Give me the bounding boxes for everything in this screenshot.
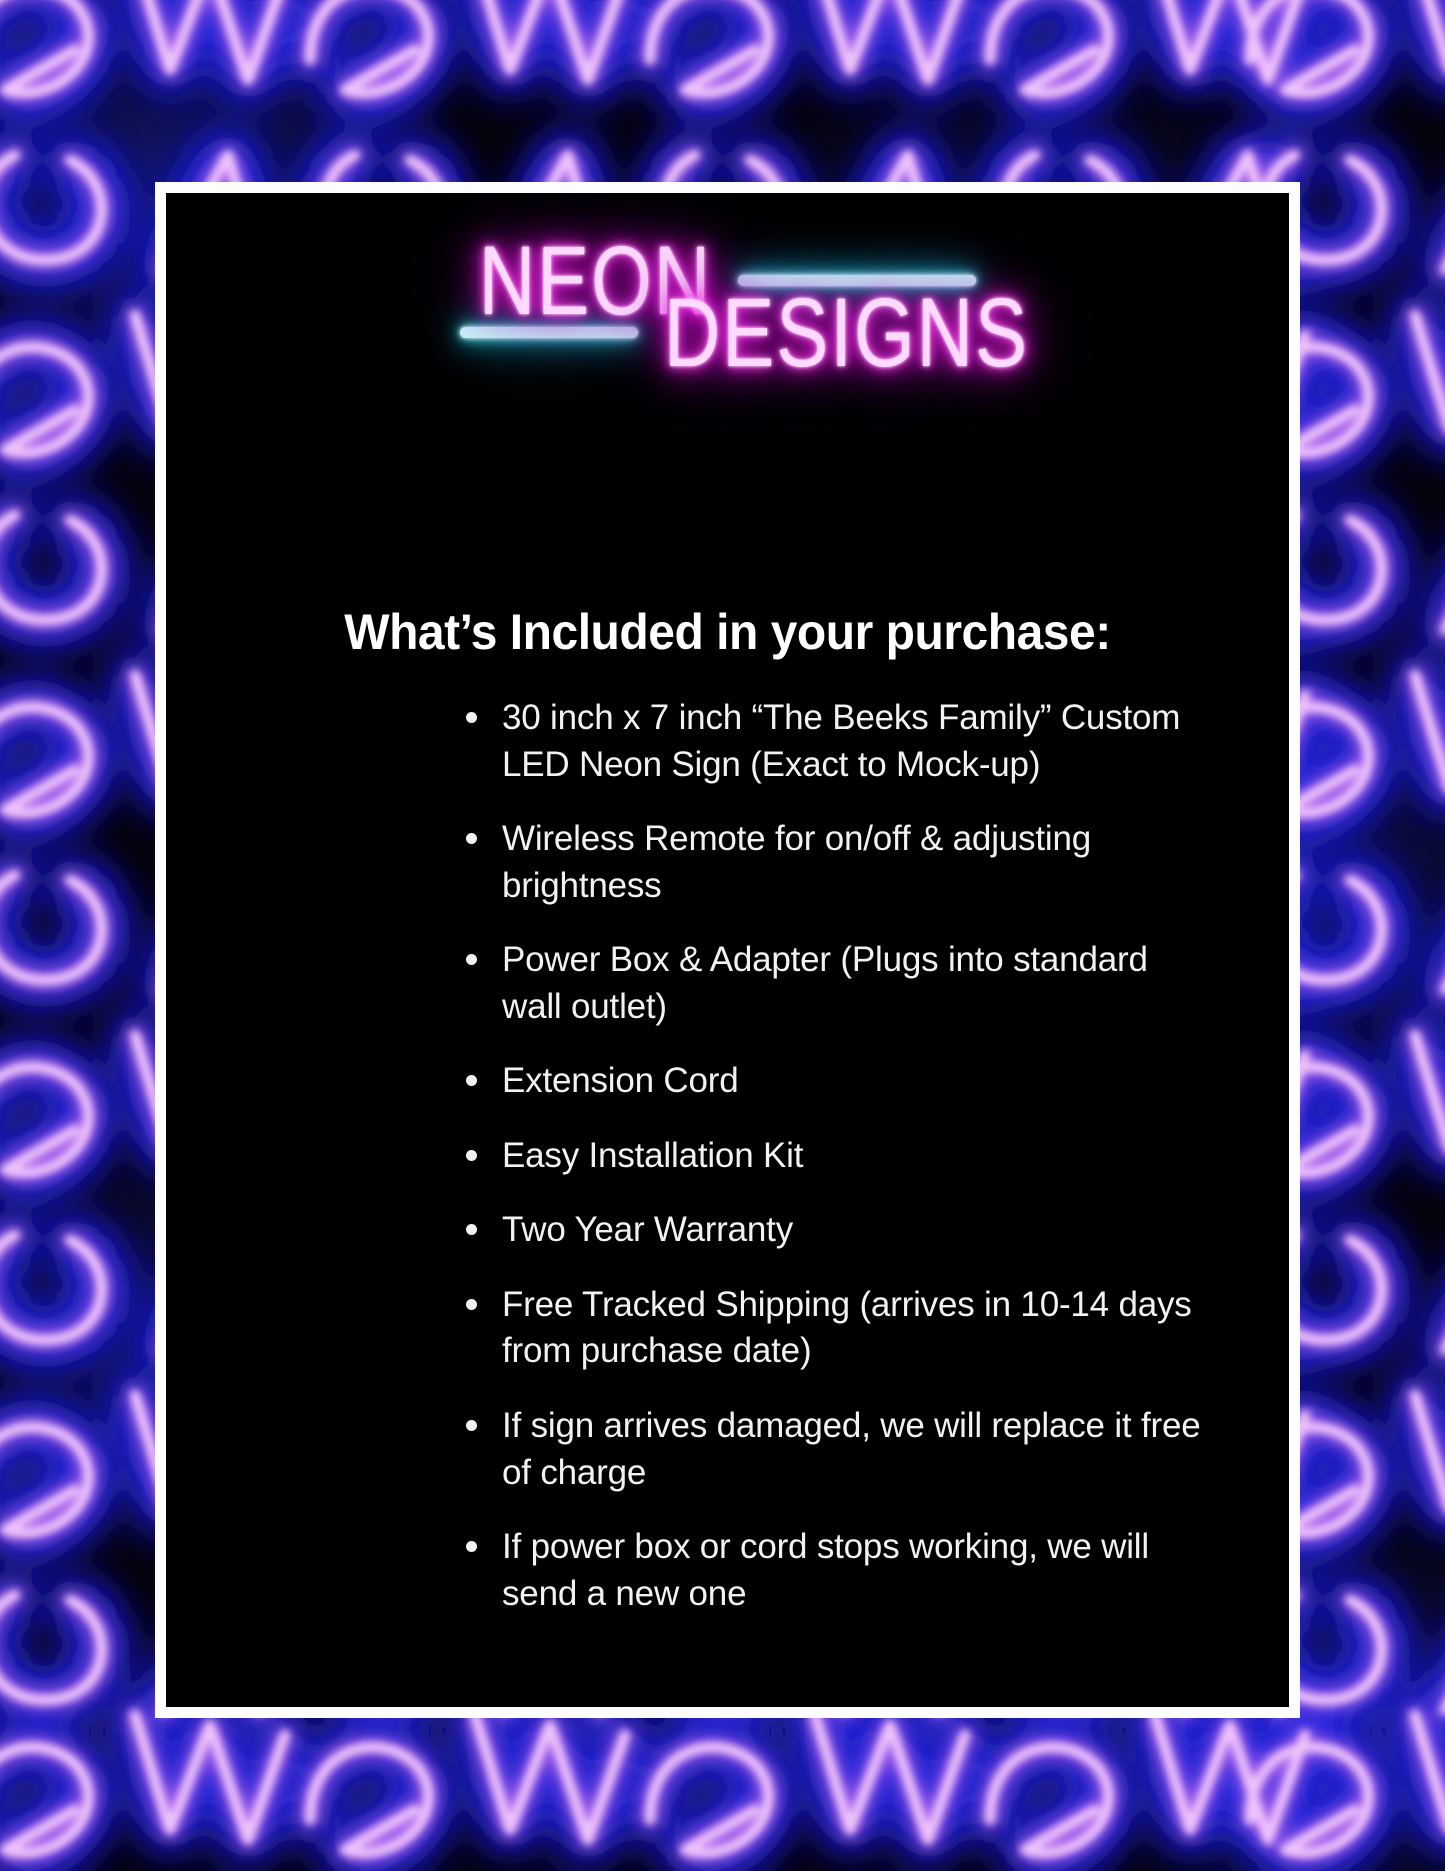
list-item: Wireless Remote for on/off & adjusting b… (466, 816, 1209, 909)
list-item-label: If power box or cord stops working, we w… (502, 1527, 1149, 1613)
list-item: Extension Cord (466, 1058, 1209, 1105)
bullet-dot-icon (466, 1150, 477, 1161)
list-item: Two Year Warranty (466, 1207, 1209, 1254)
list-item: 30 inch x 7 inch “The Beeks Family” Cust… (466, 695, 1209, 788)
bullet-dot-icon (466, 1299, 477, 1310)
bullet-dot-icon (466, 954, 477, 965)
bullet-dot-icon (466, 833, 477, 844)
list-item-label: If sign arrives damaged, we will replace… (502, 1406, 1200, 1492)
list-item-label: Easy Installation Kit (502, 1136, 803, 1175)
list-item: If sign arrives damaged, we will replace… (466, 1403, 1209, 1496)
list-item-label: Extension Cord (502, 1061, 739, 1100)
logo-row-bottom: DESIGNS (166, 293, 1289, 371)
neon-designs-logo: NEON DESIGNS (166, 241, 1289, 531)
list-item-label: Power Box & Adapter (Plugs into standard… (502, 940, 1148, 1026)
list-item: If power box or cord stops working, we w… (466, 1524, 1209, 1617)
poster-page: NEON DESIGNS What’s Included in your pur… (0, 0, 1445, 1871)
list-item: Easy Installation Kit (466, 1133, 1209, 1180)
included-items-list: 30 inch x 7 inch “The Beeks Family” Cust… (166, 695, 1289, 1617)
bullet-dot-icon (466, 1420, 477, 1431)
bullet-dot-icon (466, 712, 477, 723)
list-item-label: Two Year Warranty (502, 1210, 793, 1249)
list-item-label: 30 inch x 7 inch “The Beeks Family” Cust… (502, 698, 1180, 784)
list-item-label: Free Tracked Shipping (arrives in 10-14 … (502, 1285, 1192, 1371)
page-title: What’s Included in your purchase: (188, 603, 1266, 661)
logo-word-designs: DESIGNS (664, 283, 1029, 381)
white-frame-border: NEON DESIGNS What’s Included in your pur… (155, 182, 1300, 1718)
bullet-dot-icon (466, 1541, 477, 1552)
list-item: Power Box & Adapter (Plugs into standard… (466, 937, 1209, 1030)
bullet-dot-icon (466, 1075, 477, 1086)
bullet-dot-icon (466, 1224, 477, 1235)
black-content-card: NEON DESIGNS What’s Included in your pur… (166, 193, 1289, 1707)
list-item: Free Tracked Shipping (arrives in 10-14 … (466, 1282, 1209, 1375)
list-item-label: Wireless Remote for on/off & adjusting b… (502, 819, 1091, 905)
